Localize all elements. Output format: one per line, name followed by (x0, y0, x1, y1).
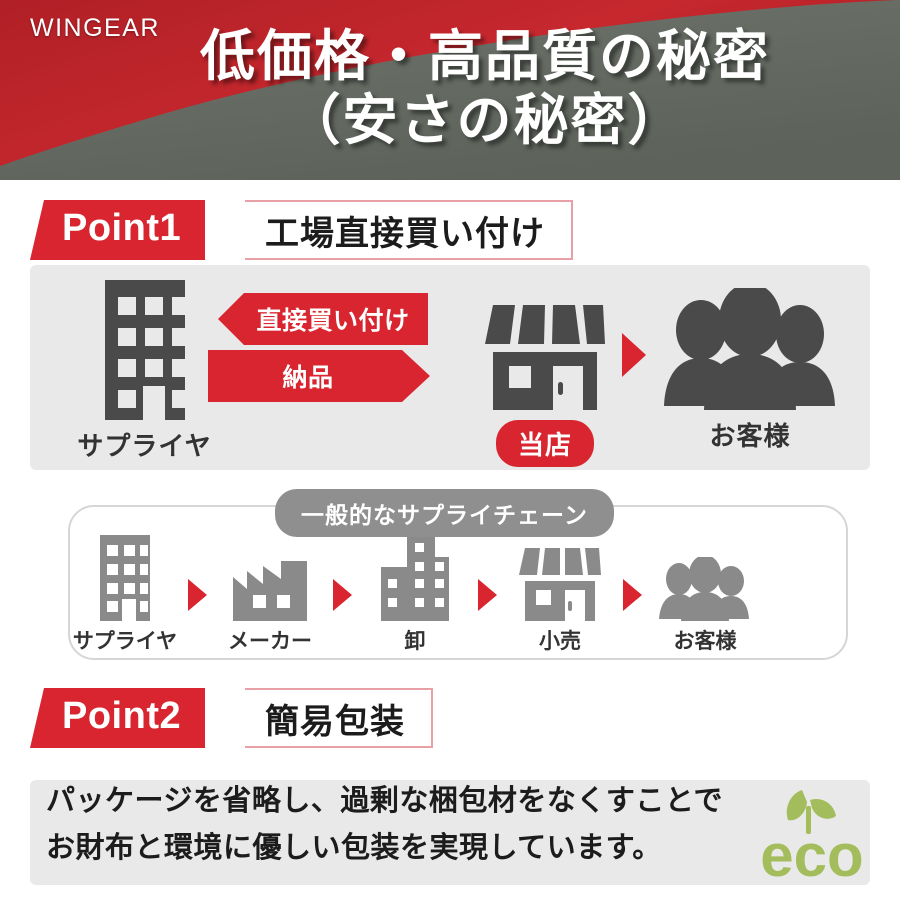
chain-arrow-icon-4 (623, 579, 642, 611)
factory-icon (231, 557, 309, 621)
chain-arrow-icon-3 (478, 579, 497, 611)
page-title-line-2: （安さの秘密） (70, 88, 900, 152)
office-building-icon (96, 535, 154, 621)
chain-node-retail: 小売 (505, 545, 615, 655)
chain-node-supplier: サプライヤ (70, 535, 180, 655)
eco-logo: eco (752, 782, 872, 882)
point1-heading: 工場直接買い付け (245, 200, 573, 260)
eco-wordmark: eco (760, 822, 863, 882)
wholesale-building-icon (377, 535, 453, 621)
office-building-icon (99, 280, 191, 420)
supply-chain-row: サプライヤ メーカー 卸 (70, 525, 850, 655)
chain-node-wholesale-label: 卸 (360, 625, 470, 655)
diagram-node-supplier-label: サプライヤ (62, 426, 227, 463)
chain-node-retail-label: 小売 (505, 625, 615, 655)
diagram-node-supplier: サプライヤ (62, 280, 227, 463)
chain-node-maker-label: メーカー (215, 625, 325, 655)
brand-logo: WINGEAR (30, 14, 160, 43)
chain-arrow-icon-1 (188, 579, 207, 611)
point2-heading: 簡易包装 (245, 688, 433, 748)
diagram-node-our-store-label-wrap: 当店 (470, 414, 620, 467)
diagram-node-our-store: 当店 (470, 300, 620, 467)
eco-leaf-icon: eco (752, 782, 872, 882)
diagram-node-our-store-label: 当店 (496, 420, 594, 467)
chain-node-customer-label: お客様 (650, 625, 760, 655)
point2-body-line-2: お財布と環境に優しい包装を実現しています。 (46, 825, 746, 872)
point2-body-text: パッケージを省略し、過剰な梱包材をなくすことで お財布と環境に優しい包装を実現し… (46, 778, 746, 872)
point1-badge-label: Point1 (62, 209, 181, 247)
chain-node-maker: メーカー (215, 557, 325, 655)
point2-heading-label: 簡易包装 (265, 694, 405, 743)
page-title-line-1: 低価格・高品質の秘密 (70, 24, 900, 88)
page-title: 低価格・高品質の秘密 （安さの秘密） (0, 24, 900, 152)
point2-badge-label: Point2 (62, 697, 181, 735)
direct-purchase-arrow-label: 直接買い付け (236, 301, 409, 337)
page-header: WINGEAR 低価格・高品質の秘密 （安さの秘密） (0, 0, 900, 180)
chain-node-supplier-label: サプライヤ (70, 625, 180, 655)
delivery-arrow-label: 納品 (282, 358, 355, 394)
point1-heading-label: 工場直接買い付け (265, 206, 545, 255)
chain-arrow-icon-2 (333, 579, 352, 611)
chain-node-customer: お客様 (650, 557, 760, 655)
people-icon (663, 288, 838, 410)
point2-body-line-1: パッケージを省略し、過剰な梱包材をなくすことで (46, 778, 746, 825)
store-to-customer-arrow-icon (622, 333, 646, 377)
point1-badge: Point1 (30, 200, 205, 260)
chain-node-wholesale: 卸 (360, 535, 470, 655)
diagram-node-customer-label: お客様 (660, 416, 840, 453)
direct-purchase-arrow: 直接買い付け (218, 293, 428, 345)
store-icon (519, 545, 601, 621)
supply-chain-title: 一般的なサプライチェーン (275, 489, 614, 537)
point2-badge: Point2 (30, 688, 205, 748)
store-icon (485, 300, 605, 410)
people-icon (659, 557, 751, 621)
diagram-node-customer: お客様 (660, 288, 840, 453)
delivery-arrow: 納品 (208, 350, 430, 402)
